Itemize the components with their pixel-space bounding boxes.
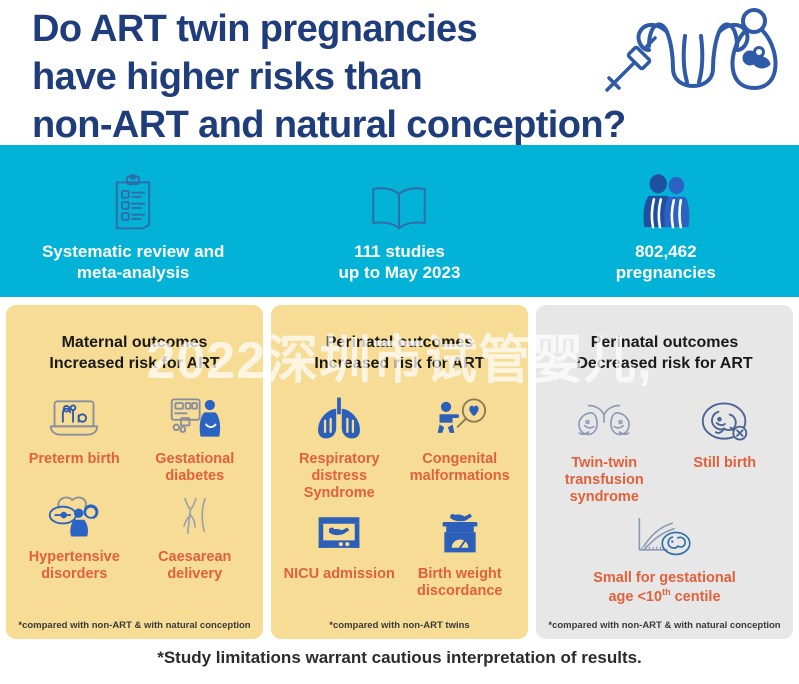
caesarean-scar-icon bbox=[174, 491, 216, 541]
banner-label: Systematic review and meta-analysis bbox=[42, 242, 224, 283]
blood-pressure-pregnant-icon bbox=[46, 491, 102, 541]
outcome-item: Congenital malformations bbox=[400, 393, 521, 502]
footer-disclaimer: *Study limitations warrant cautious inte… bbox=[0, 639, 799, 677]
panel-items: Respiratory distress Syndrome bbox=[279, 393, 520, 620]
summary-banner: Systematic review and meta-analysis 111 … bbox=[0, 145, 799, 297]
baby-scale-icon bbox=[437, 508, 483, 558]
banner-cell-pregnancies: 802,462 pregnancies bbox=[533, 159, 799, 283]
page-title: Do ART twin pregnancies have higher risk… bbox=[32, 6, 632, 150]
panel-title: Maternal outcomes Increased risk for ART bbox=[14, 333, 255, 375]
panel-items: Twin-twin transfusion syndrome St bbox=[544, 397, 785, 620]
outcome-item: Still birth bbox=[665, 397, 786, 506]
lungs-icon bbox=[313, 393, 365, 443]
twin-fetuses-placenta-icon bbox=[572, 397, 636, 447]
banner-label: 802,462 pregnancies bbox=[616, 242, 716, 283]
panel-footnote: *compared with non-ART twins bbox=[279, 620, 520, 639]
outcome-item: Gestational diabetes bbox=[135, 393, 256, 485]
outcome-label: Preterm birth bbox=[29, 451, 120, 468]
panel-title: Perinatal outcomes Decreased risk for AR… bbox=[544, 333, 785, 375]
two-people-icon bbox=[640, 159, 692, 231]
outcome-item: Hypertensive disorders bbox=[14, 491, 135, 583]
glucose-monitor-pregnant-icon bbox=[168, 393, 222, 443]
panel-title: Perinatal outcomes Increased risk for AR… bbox=[279, 333, 520, 375]
banner-label: 111 studies up to May 2023 bbox=[339, 242, 461, 283]
panel-items: Preterm birth bbox=[14, 393, 255, 620]
panel-perinatal-increased: Perinatal outcomes Increased risk for AR… bbox=[271, 305, 528, 639]
banner-cell-method: Systematic review and meta-analysis bbox=[0, 159, 266, 283]
outcome-label: Still birth bbox=[693, 455, 756, 472]
outcome-label: Respiratory distress Syndrome bbox=[281, 451, 398, 502]
banner-cell-studies: 111 studies up to May 2023 bbox=[266, 159, 532, 283]
clipboard-checklist-icon bbox=[110, 159, 156, 231]
outcome-label: Hypertensive disorders bbox=[29, 549, 120, 583]
outcome-label: Small for gestationalage <10th centile bbox=[593, 570, 736, 606]
nicu-incubator-icon bbox=[314, 508, 364, 558]
outcome-item: Preterm birth bbox=[14, 393, 135, 485]
outcome-item: Twin-twin transfusion syndrome bbox=[544, 397, 665, 506]
panel-footnote: *compared with non-ART & with natural co… bbox=[544, 620, 785, 639]
panel-maternal-increased: Maternal outcomes Increased risk for ART bbox=[6, 305, 263, 639]
panel-perinatal-decreased: Perinatal outcomes Decreased risk for AR… bbox=[536, 305, 793, 639]
outcome-item: Respiratory distress Syndrome bbox=[279, 393, 400, 502]
outcome-item: Birth weight discordance bbox=[400, 508, 521, 600]
outcome-label: Gestational diabetes bbox=[155, 451, 234, 485]
outcome-item: Small for gestationalage <10th centile bbox=[544, 512, 785, 606]
header-icon-group bbox=[589, 6, 779, 98]
uterus-syringe-icon bbox=[607, 24, 747, 90]
header: Do ART twin pregnancies have higher risk… bbox=[0, 0, 799, 145]
incubator-laptop-icon bbox=[48, 393, 100, 443]
open-book-icon bbox=[369, 159, 429, 231]
panel-footnote: *compared with non-ART & with natural co… bbox=[14, 620, 255, 639]
baby-heart-magnifier-icon bbox=[433, 393, 487, 443]
outcome-label: Twin-twin transfusion syndrome bbox=[565, 455, 644, 506]
outcome-label: Birth weight discordance bbox=[417, 566, 502, 600]
outcome-item: Caesarean delivery bbox=[135, 491, 256, 583]
outcome-label: Caesarean delivery bbox=[158, 549, 231, 583]
outcome-label: NICU admission bbox=[284, 566, 395, 583]
stillbirth-fetus-cross-icon bbox=[700, 397, 750, 447]
outcome-item: NICU admission bbox=[279, 508, 400, 600]
outcome-panels: Maternal outcomes Increased risk for ART bbox=[0, 297, 799, 639]
outcome-label: Congenital malformations bbox=[410, 451, 510, 485]
growth-chart-fetus-icon bbox=[632, 512, 698, 562]
